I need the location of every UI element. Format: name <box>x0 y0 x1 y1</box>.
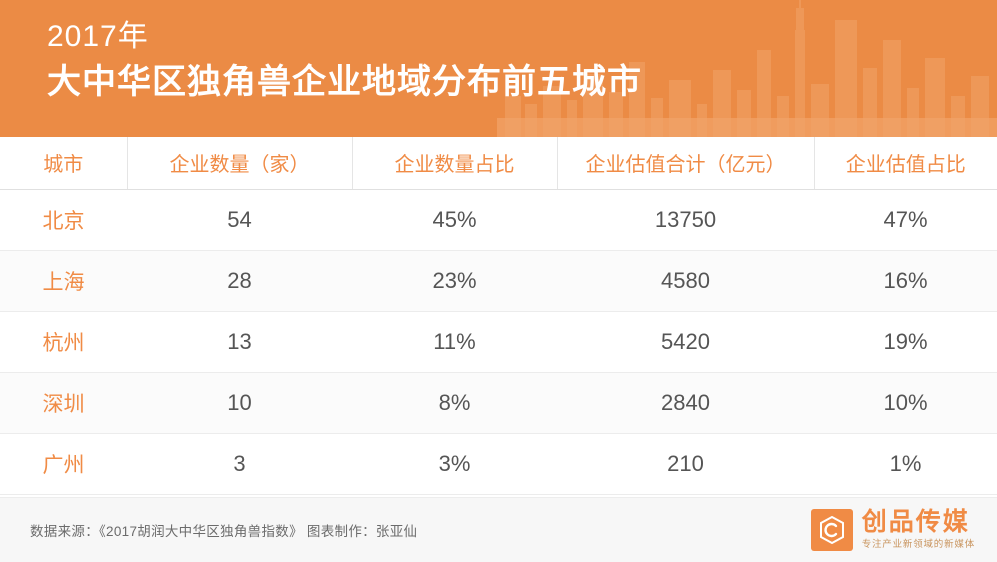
data-table: 城市 企业数量（家） 企业数量占比 企业估值合计（亿元） 企业估值占比 北京 5… <box>0 137 997 495</box>
cell-count-share: 11% <box>352 311 557 372</box>
table-row: 北京 54 45% 13750 47% <box>0 189 997 250</box>
table-row: 上海 28 23% 4580 16% <box>0 250 997 311</box>
cell-valuation-share: 16% <box>814 250 997 311</box>
cell-count: 54 <box>127 189 352 250</box>
header-banner: 2017年 大中华区独角兽企业地域分布前五城市 <box>0 0 997 137</box>
source-note: 数据来源：《2017胡润大中华区独角兽指数》 图表制作：张亚仙 <box>30 520 417 540</box>
cell-count-share: 23% <box>352 250 557 311</box>
brand-name: 创品传媒 <box>862 510 975 535</box>
cell-city: 上海 <box>0 250 127 311</box>
cell-valuation-share: 10% <box>814 372 997 433</box>
cell-valuation: 13750 <box>557 189 814 250</box>
cell-count: 13 <box>127 311 352 372</box>
hexagon-icon <box>820 516 844 544</box>
table-row: 杭州 13 11% 5420 19% <box>0 311 997 372</box>
cell-count: 10 <box>127 372 352 433</box>
cell-valuation: 210 <box>557 433 814 494</box>
cell-count-share: 45% <box>352 189 557 250</box>
cell-count-share: 3% <box>352 433 557 494</box>
cell-valuation: 2840 <box>557 372 814 433</box>
cell-valuation-share: 47% <box>814 189 997 250</box>
infographic-page: 2017年 大中华区独角兽企业地域分布前五城市 创品传媒 创品传媒 创品传媒 创… <box>0 0 997 562</box>
table-row: 深圳 10 8% 2840 10% <box>0 372 997 433</box>
data-table-container: 城市 企业数量（家） 企业数量占比 企业估值合计（亿元） 企业估值占比 北京 5… <box>0 137 997 497</box>
column-header-count-share: 企业数量占比 <box>352 137 557 189</box>
brand-tagline: 专注产业新领域的新媒体 <box>862 540 975 550</box>
brand-logo-icon <box>811 509 853 551</box>
cell-valuation: 5420 <box>557 311 814 372</box>
table-header-row: 城市 企业数量（家） 企业数量占比 企业估值合计（亿元） 企业估值占比 <box>0 137 997 189</box>
header-text-block: 2017年 大中华区独角兽企业地域分布前五城市 <box>47 18 642 104</box>
header-year: 2017年 <box>47 18 642 56</box>
cell-city: 广州 <box>0 433 127 494</box>
cell-city: 北京 <box>0 189 127 250</box>
cell-count-share: 8% <box>352 372 557 433</box>
cell-city: 杭州 <box>0 311 127 372</box>
brand-logo-text: 创品传媒 专注产业新领域的新媒体 <box>862 510 975 550</box>
cell-valuation-share: 1% <box>814 433 997 494</box>
cell-valuation: 4580 <box>557 250 814 311</box>
cell-count: 28 <box>127 250 352 311</box>
cell-count: 3 <box>127 433 352 494</box>
column-header-count: 企业数量（家） <box>127 137 352 189</box>
footer-bar: 数据来源：《2017胡润大中华区独角兽指数》 图表制作：张亚仙 创品传媒 专注产… <box>0 497 997 562</box>
cell-city: 深圳 <box>0 372 127 433</box>
column-header-valuation-share: 企业估值占比 <box>814 137 997 189</box>
column-header-city: 城市 <box>0 137 127 189</box>
brand-logo: 创品传媒 专注产业新领域的新媒体 <box>811 509 975 551</box>
table-row: 广州 3 3% 210 1% <box>0 433 997 494</box>
page-title: 大中华区独角兽企业地域分布前五城市 <box>47 60 642 104</box>
cell-valuation-share: 19% <box>814 311 997 372</box>
column-header-valuation: 企业估值合计（亿元） <box>557 137 814 189</box>
